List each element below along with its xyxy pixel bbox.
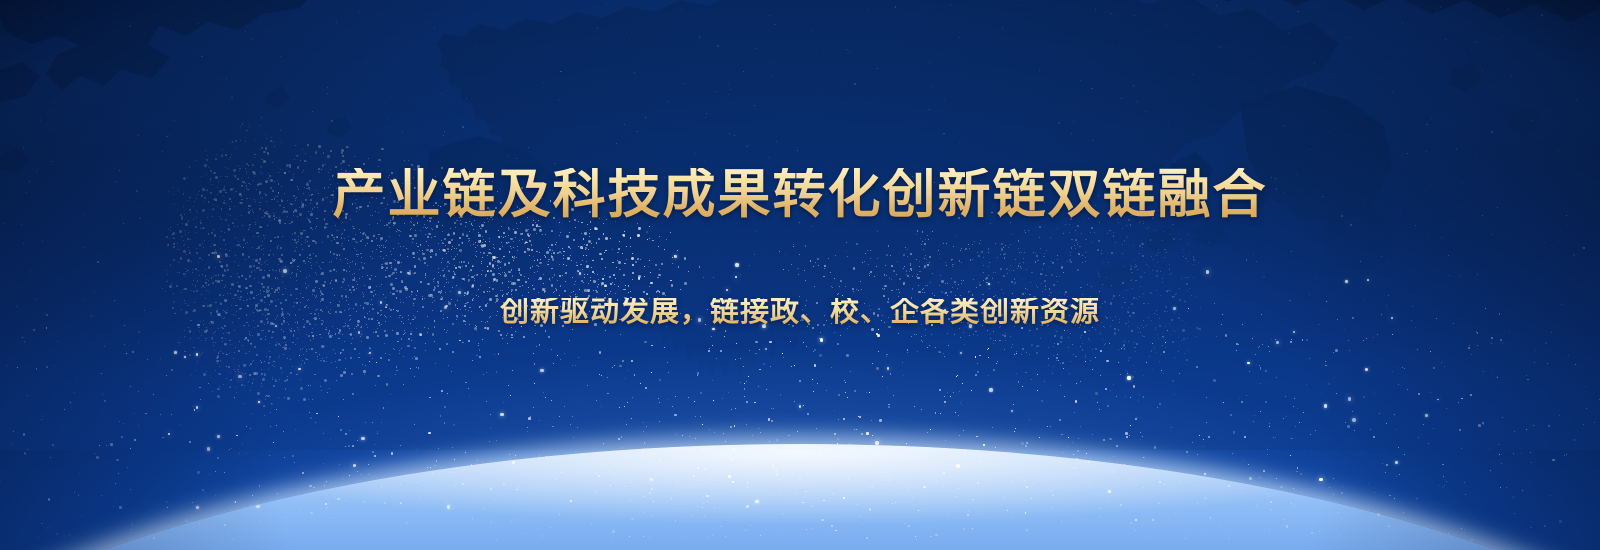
banner-sub-title: 创新驱动发展，链接政、校、企各类创新资源 xyxy=(500,298,1100,327)
hero-banner: 产业链及科技成果转化创新链双链融合 创新驱动发展，链接政、校、企各类创新资源 xyxy=(0,0,1600,550)
banner-main-title: 产业链及科技成果转化创新链双链融合 xyxy=(333,168,1268,221)
banner-text-stack: 产业链及科技成果转化创新链双链融合 创新驱动发展，链接政、校、企各类创新资源 xyxy=(0,0,1600,550)
